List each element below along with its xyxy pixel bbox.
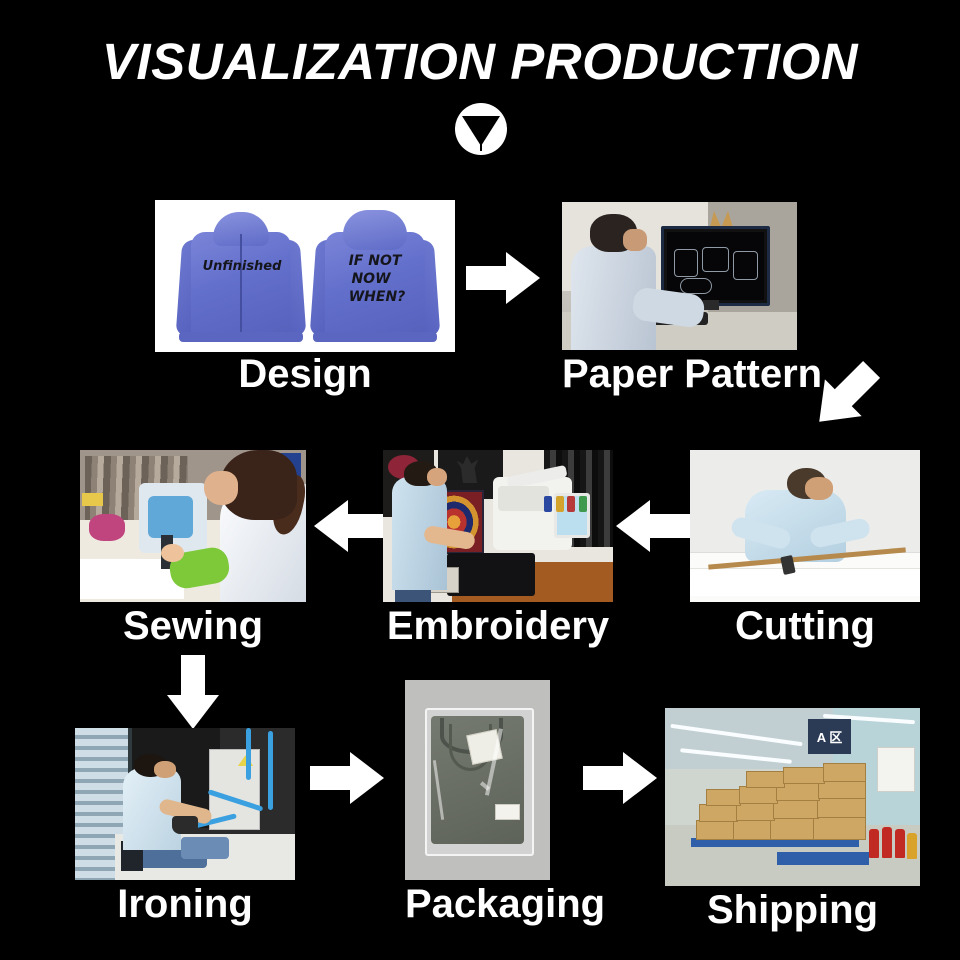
arrow-ironing-to-packaging [310,752,388,804]
arrow-embroidery-to-sewing [310,500,388,552]
step-label-paper-pattern: Paper Pattern [562,352,797,397]
step-card-shipping: A 区 [665,708,920,938]
page-title: VISUALIZATION PRODUCTION [0,32,960,91]
step-card-paper-pattern: Paper Pattern [562,202,797,407]
step-label-shipping: Shipping [665,888,920,933]
arrow-packaging-to-shipping [583,752,661,804]
step-label-ironing: Ironing [75,882,295,927]
size-label [495,804,520,820]
arrow-design-to-paper-pattern [466,252,544,304]
infographic-page: VISUALIZATION PRODUCTION Unfinished [0,0,960,960]
step-card-ironing: Ironing [75,728,295,933]
packaging-photo [405,680,550,880]
down-triangle-icon [455,103,507,155]
paper-pattern-photo [562,202,797,350]
shipping-photo: A 区 [665,708,920,886]
step-card-cutting: Cutting [690,450,920,650]
step-card-embroidery: Embroidery [383,450,613,650]
arrow-cutting-to-embroidery [612,500,690,552]
step-label-packaging: Packaging [405,882,550,927]
hoodie-back-graphic-line1: IF NOT [329,254,421,269]
step-card-packaging: Packaging [405,680,550,935]
hoodie-back-graphic-line3: WHEN? [331,290,423,305]
embroidery-photo [383,450,613,602]
ironing-photo [75,728,295,880]
step-label-sewing: Sewing [80,604,306,649]
design-photo: Unfinished IF NOT NOW WHEN? [155,200,455,352]
step-label-embroidery: Embroidery [383,604,613,649]
hoodie-back-graphic-line2: NOW [325,272,417,287]
cutting-photo [690,450,920,602]
step-card-design: Unfinished IF NOT NOW WHEN? Design [155,200,455,405]
arrow-sewing-to-ironing [167,655,219,733]
step-label-cutting: Cutting [690,604,920,649]
step-card-sewing: Sewing [80,450,306,650]
hoodie-front-graphic: Unfinished [197,260,287,274]
warehouse-area-sign: A 区 [808,719,851,755]
sewing-photo [80,450,306,602]
step-label-design: Design [155,352,455,397]
